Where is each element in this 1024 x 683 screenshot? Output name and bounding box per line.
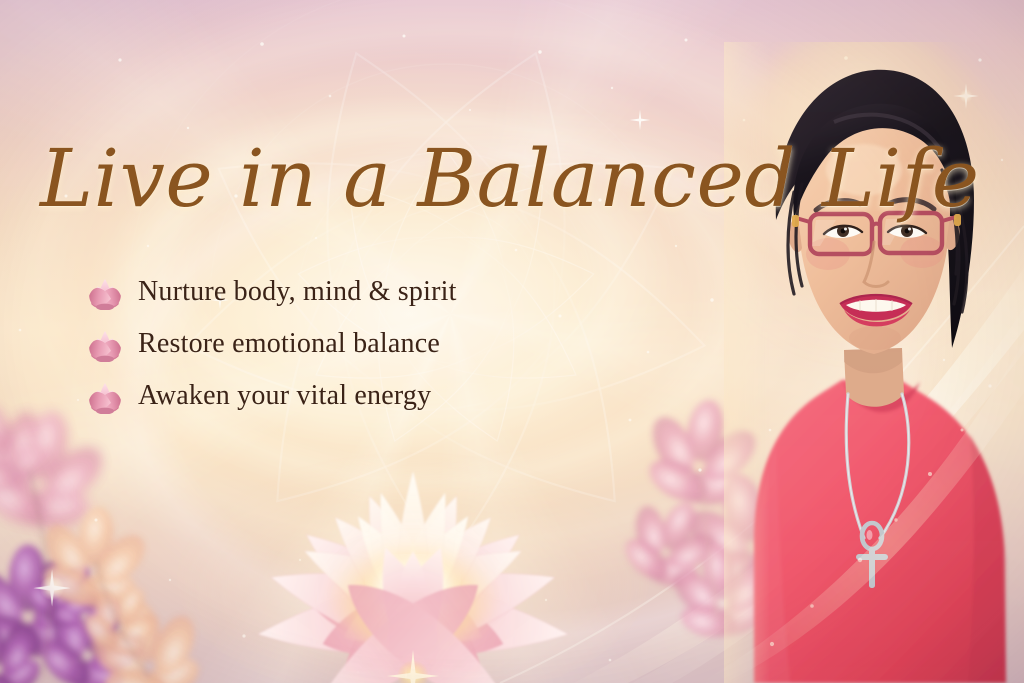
- list-item-label: Awaken your vital energy: [126, 380, 431, 412]
- list-item: Nurture body, mind & spirit: [84, 266, 604, 318]
- benefits-list: Nurture body, mind & spirit: [84, 266, 604, 422]
- lotus-icon: [84, 326, 126, 362]
- lotus-icon: [84, 274, 126, 310]
- lotus-flower-illustration: [168, 428, 658, 683]
- ankh-pendant-icon: [856, 523, 888, 588]
- balanced-life-banner: Live in a Balanced Life: [0, 0, 1024, 683]
- lotus-icon: [84, 378, 126, 414]
- necklace-icon: [846, 394, 909, 588]
- list-item-label: Restore emotional balance: [126, 328, 440, 360]
- list-item: Awaken your vital energy: [84, 370, 604, 422]
- list-item-label: Nurture body, mind & spirit: [126, 276, 457, 308]
- page-title: Live in a Balanced Life: [40, 131, 740, 227]
- list-item: Restore emotional balance: [84, 318, 604, 370]
